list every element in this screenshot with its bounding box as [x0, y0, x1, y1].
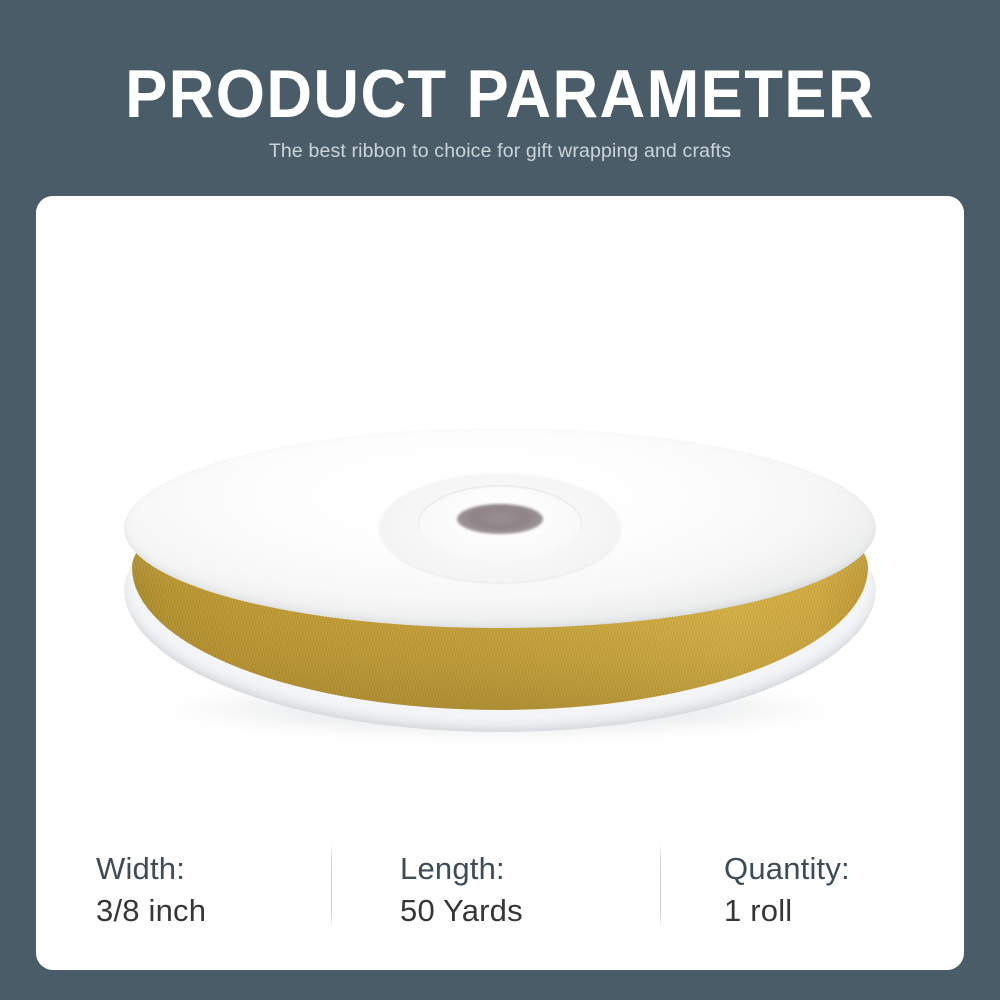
- spec-item-width: Width: 3/8 inch: [36, 816, 332, 933]
- specifications-row: Width: 3/8 inch Length: 50 Yards Quantit…: [36, 816, 964, 970]
- product-parameter-page: PRODUCT PARAMETER The best ribbon to cho…: [0, 0, 1000, 1000]
- spec-label-quantity: Quantity:: [724, 848, 964, 889]
- spec-value-quantity: 1 roll: [724, 889, 964, 933]
- spec-value-width: 3/8 inch: [96, 889, 332, 933]
- spool-top-disc: [124, 428, 876, 628]
- spec-item-length: Length: 50 Yards: [332, 816, 660, 933]
- page-title: PRODUCT PARAMETER: [35, 55, 965, 133]
- spec-item-quantity: Quantity: 1 roll: [660, 816, 964, 933]
- product-card: Width: 3/8 inch Length: 50 Yards Quantit…: [36, 196, 964, 970]
- spec-label-length: Length:: [400, 848, 660, 889]
- page-subtitle: The best ribbon to choice for gift wrapp…: [0, 138, 1000, 164]
- ribbon-spool-image: [124, 428, 876, 753]
- spec-value-length: 50 Yards: [400, 889, 660, 933]
- product-photo: [36, 196, 964, 816]
- spool-center-hole: [457, 504, 543, 534]
- header-banner: PRODUCT PARAMETER The best ribbon to cho…: [0, 0, 1000, 196]
- spec-label-width: Width:: [96, 848, 332, 889]
